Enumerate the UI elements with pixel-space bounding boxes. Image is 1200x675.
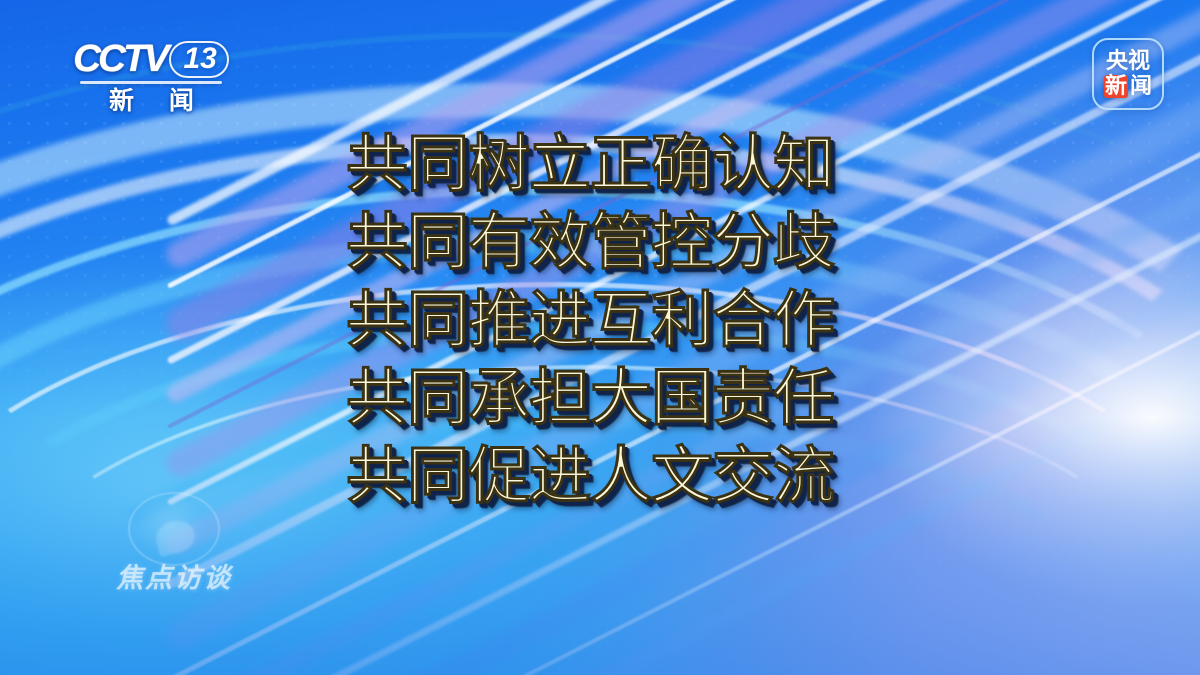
headline-line-2: 共同有效管控分歧 xyxy=(346,204,846,282)
cctv-logo-underline xyxy=(80,81,222,84)
badge-line-top: 央视 xyxy=(1106,50,1150,73)
cctv-channel-logo: CCTV 13 新 闻 xyxy=(74,40,229,114)
cctv-channel-subtitle: 新 闻 xyxy=(95,89,208,114)
headline-line-4: 共同承担大国责任 xyxy=(346,360,846,438)
program-watermark-title: 焦点访谈 xyxy=(116,556,232,595)
badge-line-bottom: 新 闻 xyxy=(1104,75,1152,98)
badge-text-wen: 闻 xyxy=(1130,75,1152,98)
focus-circle-mark-icon xyxy=(128,492,220,566)
badge-text-yangshi: 央视 xyxy=(1106,50,1150,73)
cctv-channel-number: 13 xyxy=(169,41,228,78)
cctv-wordmark: CCTV xyxy=(73,40,166,78)
cctv-news-badge: 央视 新 闻 xyxy=(1092,38,1164,110)
headline-block: 共同树立正确认知 共同有效管控分歧 共同推进互利合作 共同承担大国责任 共同促进… xyxy=(346,126,846,516)
badge-text-xin-highlight: 新 xyxy=(1104,75,1128,98)
headline-line-1: 共同树立正确认知 xyxy=(346,126,846,204)
headline-line-5: 共同促进人文交流 xyxy=(346,438,846,516)
broadcast-screen: CCTV 13 新 闻 央视 新 闻 共同树立正确认知 共同有效管控分歧 共同推… xyxy=(0,0,1200,675)
cctv-logo-row: CCTV 13 xyxy=(74,40,229,78)
headline-line-3: 共同推进互利合作 xyxy=(346,282,846,360)
